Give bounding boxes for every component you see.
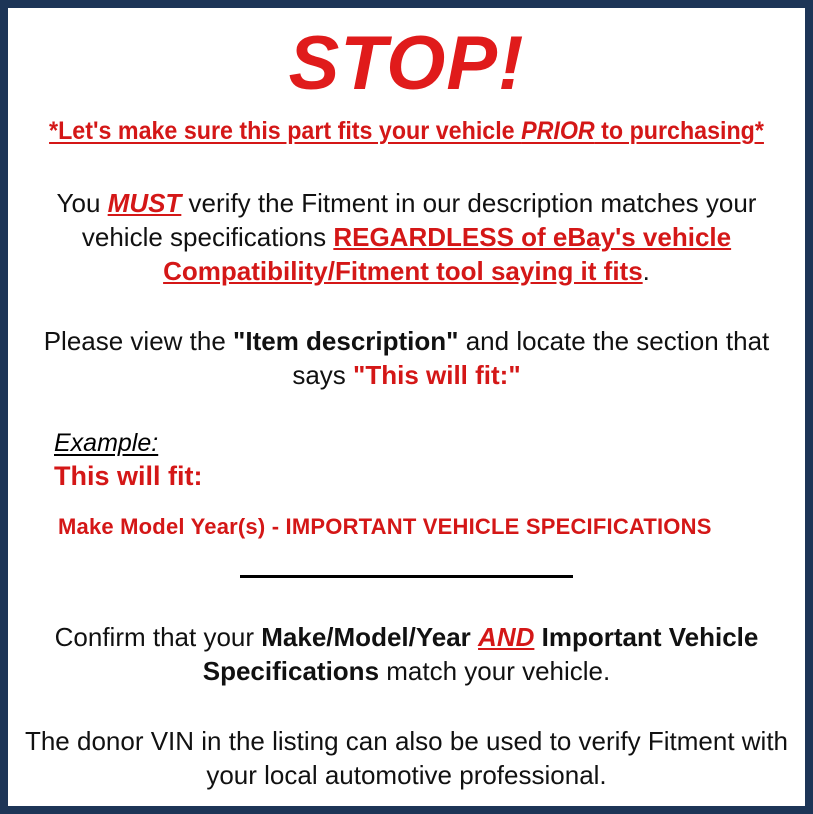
paragraph-must-verify: You MUST verify the Fitment in our descr…: [18, 186, 795, 288]
emphasis-and: AND: [478, 622, 534, 652]
page-title: STOP!: [18, 8, 795, 108]
paragraph-item-description: Please view the "Item description" and l…: [18, 324, 795, 392]
paragraph-donor-vin: The donor VIN in the listing can also be…: [18, 724, 795, 792]
example-spec-line: Make Model Year(s) - IMPORTANT VEHICLE S…: [58, 514, 795, 540]
p2-seg-1: Please view the: [44, 326, 233, 356]
example-block: Example: This will fit: Make Model Year(…: [18, 428, 795, 540]
red-this-will-fit: "This will fit:": [353, 360, 521, 390]
emphasis-must: MUST: [108, 188, 182, 218]
pc-seg-4: match your vehicle.: [379, 656, 610, 686]
fitment-notice-card: STOP! *Let's make sure this part fits yo…: [0, 0, 813, 814]
example-heading: This will fit:: [54, 460, 795, 492]
example-label-row: Example:: [54, 428, 795, 458]
divider-container: [18, 568, 795, 586]
subtitle-emphasis-prior: PRIOR: [521, 117, 595, 145]
p1-seg-1: You: [57, 188, 108, 218]
pc-seg-1: Confirm that your: [55, 622, 262, 652]
notice-content: STOP! *Let's make sure this part fits yo…: [8, 8, 805, 806]
subtitle-banner: *Let's make sure this part fits your veh…: [45, 116, 768, 146]
horizontal-rule: [240, 575, 573, 578]
bold-item-description: "Item description": [233, 326, 458, 356]
paragraph-confirm: Confirm that your Make/Model/Year AND Im…: [18, 620, 795, 688]
bold-make-model-year: Make/Model/Year: [261, 622, 471, 652]
example-label: Example:: [54, 428, 158, 458]
pc-seg-3: [534, 622, 541, 652]
p1-seg-3: .: [643, 256, 650, 286]
subtitle-text-after: to purchasing*: [595, 117, 764, 145]
subtitle-text-before: *Let's make sure this part fits your veh…: [49, 117, 521, 145]
pc-seg-2: [471, 622, 478, 652]
